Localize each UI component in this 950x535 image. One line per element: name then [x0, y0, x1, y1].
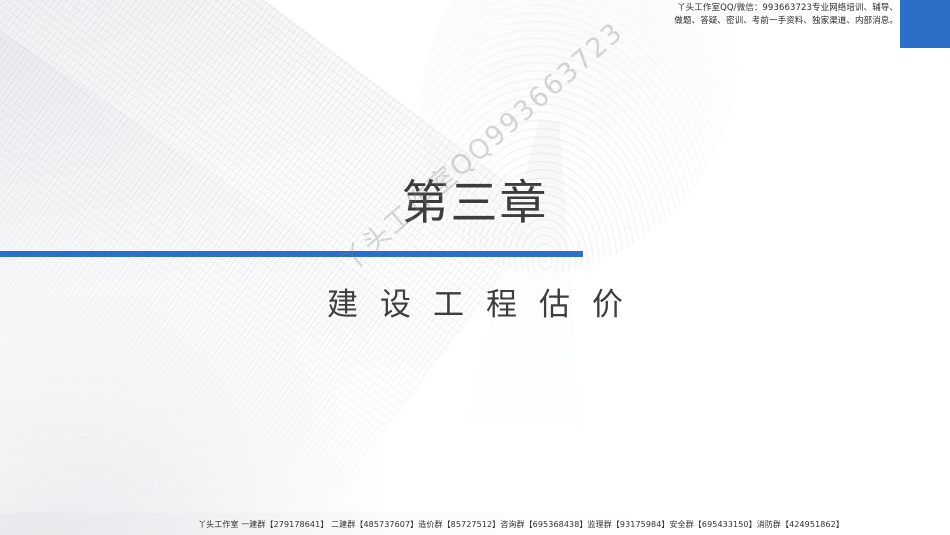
background-artwork — [0, 0, 950, 535]
background-diagonal-tower — [0, 0, 550, 535]
decorative-blue-block — [900, 0, 950, 48]
slide-canvas: 丫头工作室QQ/微信：993663723专业网络培训、辅导、 做题、答疑、密训、… — [0, 0, 950, 535]
background-corner-wash — [0, 295, 380, 535]
background-swirling-tower-crown — [391, 0, 770, 306]
background-secondary-diagonal-tower — [0, 0, 400, 535]
header-promo-line-2: 做题、答疑、密训、考前一手资料、独家渠道、内部消息。 — [548, 15, 898, 28]
chapter-subtitle: 建设工程估价 — [0, 287, 950, 324]
header-promo-note: 丫头工作室QQ/微信：993663723专业网络培训、辅导、 做题、答疑、密训、… — [548, 2, 898, 28]
chapter-title: 第三章 — [0, 178, 950, 231]
title-divider-rule — [0, 251, 583, 257]
diagonal-watermark: 丫头工作室QQ993663723 — [330, 11, 630, 279]
header-promo-line-1: 丫头工作室QQ/微信：993663723专业网络培训、辅导、 — [548, 2, 898, 15]
footer-group-list: 丫头工作室 一建群【279178641】 二建群【485737607】造价群【8… — [0, 520, 950, 530]
